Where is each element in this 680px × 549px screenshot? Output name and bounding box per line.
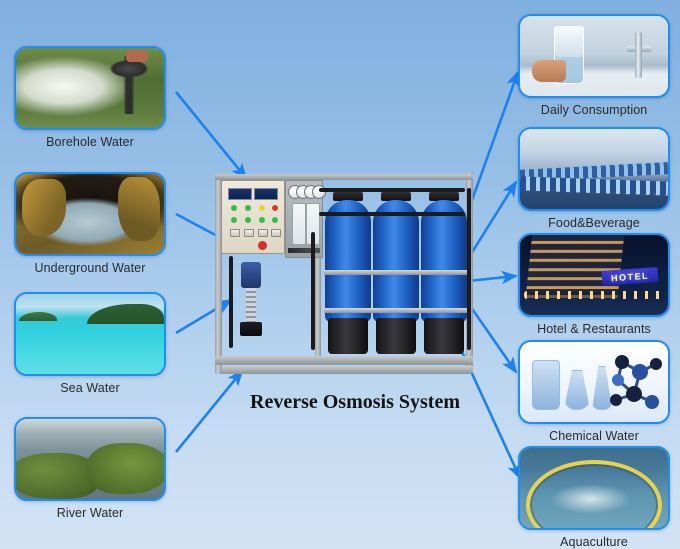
frame-rail-bottom bbox=[215, 356, 473, 365]
feed-pipe-left bbox=[229, 256, 233, 348]
pump-stages bbox=[246, 288, 256, 322]
output-thumb-daily[interactable] bbox=[518, 14, 670, 98]
vessel-body-1 bbox=[325, 200, 371, 322]
flask-icon bbox=[564, 370, 590, 410]
indicator-green-3 bbox=[231, 217, 237, 223]
output-card-4[interactable]: Aquaculture bbox=[518, 446, 670, 549]
indicator-green-1 bbox=[231, 205, 237, 211]
output-card-3[interactable]: Chemical Water bbox=[518, 340, 670, 443]
indicator-green-5 bbox=[259, 217, 265, 223]
indicator-green-6 bbox=[272, 217, 278, 223]
hand-icon bbox=[532, 60, 566, 82]
input-card-2[interactable]: Sea Water bbox=[14, 292, 166, 395]
output-thumb-food[interactable] bbox=[518, 127, 670, 211]
vessel-band-3b bbox=[420, 308, 468, 313]
terminal-strip bbox=[288, 248, 320, 253]
borehole-photo bbox=[16, 48, 164, 128]
daily-consumption-photo bbox=[520, 16, 668, 96]
input-label-0: Borehole Water bbox=[14, 135, 166, 149]
indicator-red-1 bbox=[272, 205, 278, 211]
vessel-band-2a bbox=[372, 270, 420, 275]
input-label-2: Sea Water bbox=[14, 381, 166, 395]
bottle-icon bbox=[532, 360, 560, 410]
hotel-sign: HOTEL bbox=[602, 267, 659, 286]
pump-base bbox=[240, 322, 262, 336]
sea-photo bbox=[16, 294, 164, 374]
input-thumb-borehole[interactable] bbox=[14, 46, 166, 130]
pipe-riser-mid bbox=[311, 232, 315, 350]
frame-base-skid bbox=[220, 366, 474, 374]
underground-photo bbox=[16, 174, 164, 254]
panel-button-3[interactable] bbox=[258, 229, 268, 237]
output-label-1: Food&Beverage bbox=[518, 216, 670, 230]
instrument-bay bbox=[285, 180, 323, 258]
control-panel[interactable] bbox=[221, 180, 285, 254]
input-thumb-sea[interactable] bbox=[14, 292, 166, 376]
output-card-2[interactable]: HOTEL Hotel & Restaurants bbox=[518, 233, 670, 336]
output-label-3: Chemical Water bbox=[518, 429, 670, 443]
output-label-4: Aquaculture bbox=[518, 535, 670, 549]
emergency-stop-button[interactable] bbox=[258, 241, 267, 250]
molecule-icon bbox=[606, 350, 662, 418]
vessel-band-1a bbox=[324, 270, 372, 275]
input-label-1: Underground Water bbox=[14, 261, 166, 275]
output-label-2: Hotel & Restaurants bbox=[518, 322, 670, 336]
vessel-base-2 bbox=[376, 318, 416, 354]
indicator-green-2 bbox=[245, 205, 251, 211]
display-2 bbox=[254, 188, 278, 200]
pressure-vessel-1 bbox=[325, 192, 371, 354]
pump-motor bbox=[241, 262, 261, 288]
top-manifold-pipe bbox=[319, 188, 465, 192]
vessel-body-2 bbox=[373, 200, 419, 322]
panel-button-4[interactable] bbox=[271, 229, 281, 237]
output-card-1[interactable]: Food&Beverage bbox=[518, 127, 670, 230]
panel-button-1[interactable] bbox=[230, 229, 240, 237]
vessel-band-1b bbox=[324, 308, 372, 313]
output-thumb-chemical[interactable] bbox=[518, 340, 670, 424]
flow-meter-1 bbox=[292, 203, 306, 245]
canopy-lights bbox=[524, 291, 664, 299]
aquaculture-photo bbox=[520, 448, 668, 528]
panel-button-2[interactable] bbox=[244, 229, 254, 237]
page-title: Reverse Osmosis System bbox=[205, 391, 505, 414]
input-thumb-underground[interactable] bbox=[14, 172, 166, 256]
display-1 bbox=[228, 188, 252, 200]
output-label-0: Daily Consumption bbox=[518, 103, 670, 117]
vessel-band-2b bbox=[372, 308, 420, 313]
pressure-vessel-3 bbox=[421, 192, 467, 354]
right-riser-pipe bbox=[467, 188, 471, 350]
output-thumb-aquaculture[interactable] bbox=[518, 446, 670, 530]
hotel-photo: HOTEL bbox=[520, 235, 668, 315]
vessel-band-3a bbox=[420, 270, 468, 275]
pressure-vessel-2 bbox=[373, 192, 419, 354]
indicator-green-4 bbox=[245, 217, 251, 223]
input-thumb-river[interactable] bbox=[14, 417, 166, 501]
input-card-3[interactable]: River Water bbox=[14, 417, 166, 520]
ro-system-infographic: Borehole Water Underground Water Sea Wat… bbox=[0, 0, 680, 549]
reverse-osmosis-machine[interactable] bbox=[215, 170, 477, 385]
input-label-3: River Water bbox=[14, 506, 166, 520]
vessel-body-3 bbox=[421, 200, 467, 322]
vessel-base-3 bbox=[424, 318, 464, 354]
indicator-yellow-1 bbox=[259, 205, 265, 211]
river-photo bbox=[16, 419, 164, 499]
diagram-title-wrap: Reverse Osmosis System bbox=[205, 391, 505, 414]
faucet-icon bbox=[626, 46, 652, 52]
output-thumb-hotel[interactable]: HOTEL bbox=[518, 233, 670, 317]
output-card-0[interactable]: Daily Consumption bbox=[518, 14, 670, 117]
input-card-1[interactable]: Underground Water bbox=[14, 172, 166, 275]
arrow-borehole-to-machine bbox=[176, 92, 246, 178]
input-card-0[interactable]: Borehole Water bbox=[14, 46, 166, 149]
high-pressure-pump bbox=[241, 262, 261, 336]
vessel-base-1 bbox=[328, 318, 368, 354]
second-manifold-pipe bbox=[319, 212, 465, 216]
food-beverage-photo bbox=[520, 129, 668, 209]
chemical-water-photo bbox=[520, 342, 668, 422]
